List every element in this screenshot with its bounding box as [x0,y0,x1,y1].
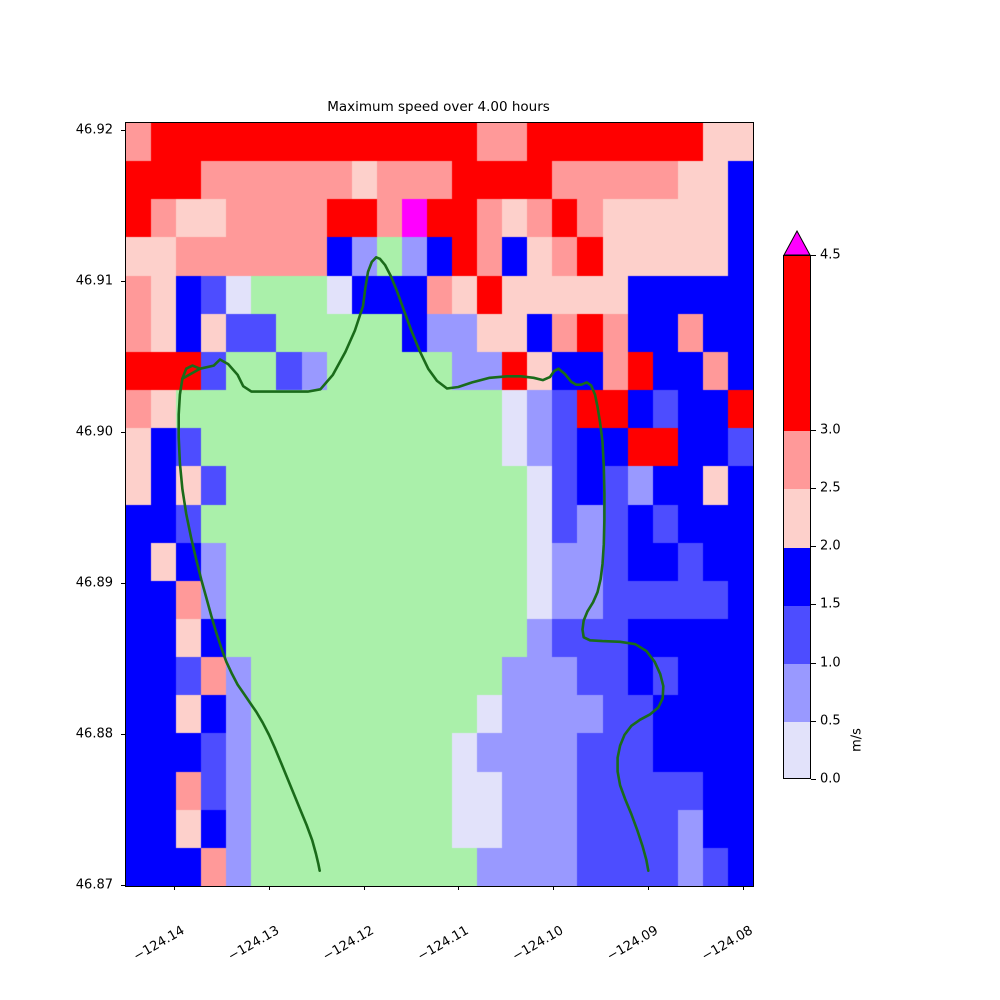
colorbar-gradient [783,255,811,779]
colorbar-tick [811,488,816,489]
x-axis-tick [743,886,744,890]
colorbar-tick-label: 1.0 [820,655,841,670]
x-axis-tick [553,886,554,890]
x-axis-tick-label: −124.14 [131,923,187,964]
colorbar-band [784,605,810,664]
colorbar-band [784,547,810,606]
y-axis-tick-label: 46.90 [13,424,113,439]
colorbar-tick [811,546,816,547]
colorbar-over-arrow [783,230,811,256]
colorbar-tick [811,604,816,605]
colorbar-tick [811,779,816,780]
colorbar-label: m/s [850,728,865,752]
x-axis-tick [648,886,649,890]
x-axis-tick [174,886,175,890]
x-axis-tick-label: −124.11 [415,923,471,964]
y-axis-tick-label: 46.89 [13,575,113,590]
colorbar-band [784,722,810,779]
y-axis-tick [121,432,125,433]
x-axis-tick-label: −124.13 [226,923,282,964]
colorbar-tick [811,255,816,256]
y-axis-tick [121,130,125,131]
figure-canvas: Maximum speed over 4.00 hours 46.9246.91… [0,0,1000,1000]
x-axis-tick-label: −124.10 [510,923,566,964]
y-axis-tick-label: 46.91 [13,273,113,288]
colorbar-tick-label: 2.5 [820,480,841,495]
colorbar-band [784,256,810,431]
x-axis-tick [458,886,459,890]
colorbar-tick-label: 1.5 [820,597,841,612]
y-axis-tick-label: 46.87 [13,878,113,893]
y-axis-tick [121,281,125,282]
colorbar-tick [811,430,816,431]
y-axis-tick-label: 46.88 [13,726,113,741]
colorbar-tick [811,663,816,664]
colorbar-tick-label: 3.0 [820,422,841,437]
x-axis-tick-label: −124.08 [699,923,755,964]
x-axis-tick [364,886,365,890]
colorbar-band [784,489,810,548]
colorbar-tick [811,721,816,722]
colorbar-tick-label: 4.5 [820,248,841,263]
y-axis-tick [121,885,125,886]
x-axis-tick-label: −124.12 [320,923,376,964]
colorbar-band [784,431,810,490]
y-axis-tick [121,583,125,584]
x-axis-tick-label: −124.09 [605,923,661,964]
colorbar-band [784,664,810,723]
colorbar-tick-label: 0.5 [820,713,841,728]
colorbar-tick-label: 0.0 [820,772,841,787]
x-axis-tick [269,886,270,890]
y-axis-tick [121,734,125,735]
colorbar-tick-label: 2.0 [820,539,841,554]
colorbar[interactable]: m/s 4.53.02.52.01.51.00.50.0 [783,230,903,790]
y-axis-tick-label: 46.92 [13,122,113,137]
